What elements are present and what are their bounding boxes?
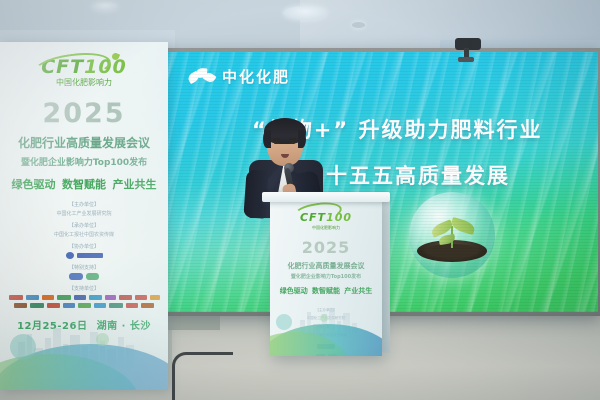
stage-handrail xyxy=(172,352,233,400)
decor-circle xyxy=(276,314,292,330)
podium-brand-logo: CFT100 中国化肥影响力 xyxy=(270,206,382,230)
conference-stage-photo: 中化化肥 “生物+” 升级助力肥料行业 十五五高质量发展 CFT100 中 xyxy=(0,0,600,400)
eyebrow xyxy=(289,138,296,140)
eye xyxy=(290,142,295,144)
podium-slogan-part-1: 绿色驱动 xyxy=(280,287,308,295)
podium-brand-subtitle: 中国化肥影响力 xyxy=(270,226,382,230)
podium-slogan: 绿色驱动 数智赋能 产业共生 xyxy=(270,286,382,296)
podium-title-line1: 化肥行业高质量发展会议 xyxy=(270,261,382,271)
podium-top-surface xyxy=(262,192,390,202)
recessed-ceiling-light xyxy=(352,22,365,28)
backdrop-sheen xyxy=(0,42,168,390)
decor-circle xyxy=(320,314,328,322)
hair-side xyxy=(298,130,306,148)
hair-side xyxy=(263,130,271,148)
podium: CFT100 中国化肥影响力 2025 化肥行业高质量发展会议 暨化肥企业影响力… xyxy=(270,196,382,356)
podium-slogan-part-2: 数智赋能 xyxy=(312,287,340,295)
recessed-ceiling-light xyxy=(283,6,327,20)
eyebrow xyxy=(273,138,280,140)
spotlight-mount xyxy=(458,57,474,62)
podium-slogan-part-3: 产业共生 xyxy=(344,287,372,295)
event-backdrop-banner: CFT100 中国化肥影响力 2025 化肥行业高质量发展会议 暨化肥企业影响力… xyxy=(0,42,168,390)
podium-title-line2: 暨化肥企业影响力Top100发布 xyxy=(270,273,382,280)
recessed-ceiling-light xyxy=(92,2,118,11)
podium-year: 2025 xyxy=(270,238,382,257)
eye xyxy=(274,142,279,144)
